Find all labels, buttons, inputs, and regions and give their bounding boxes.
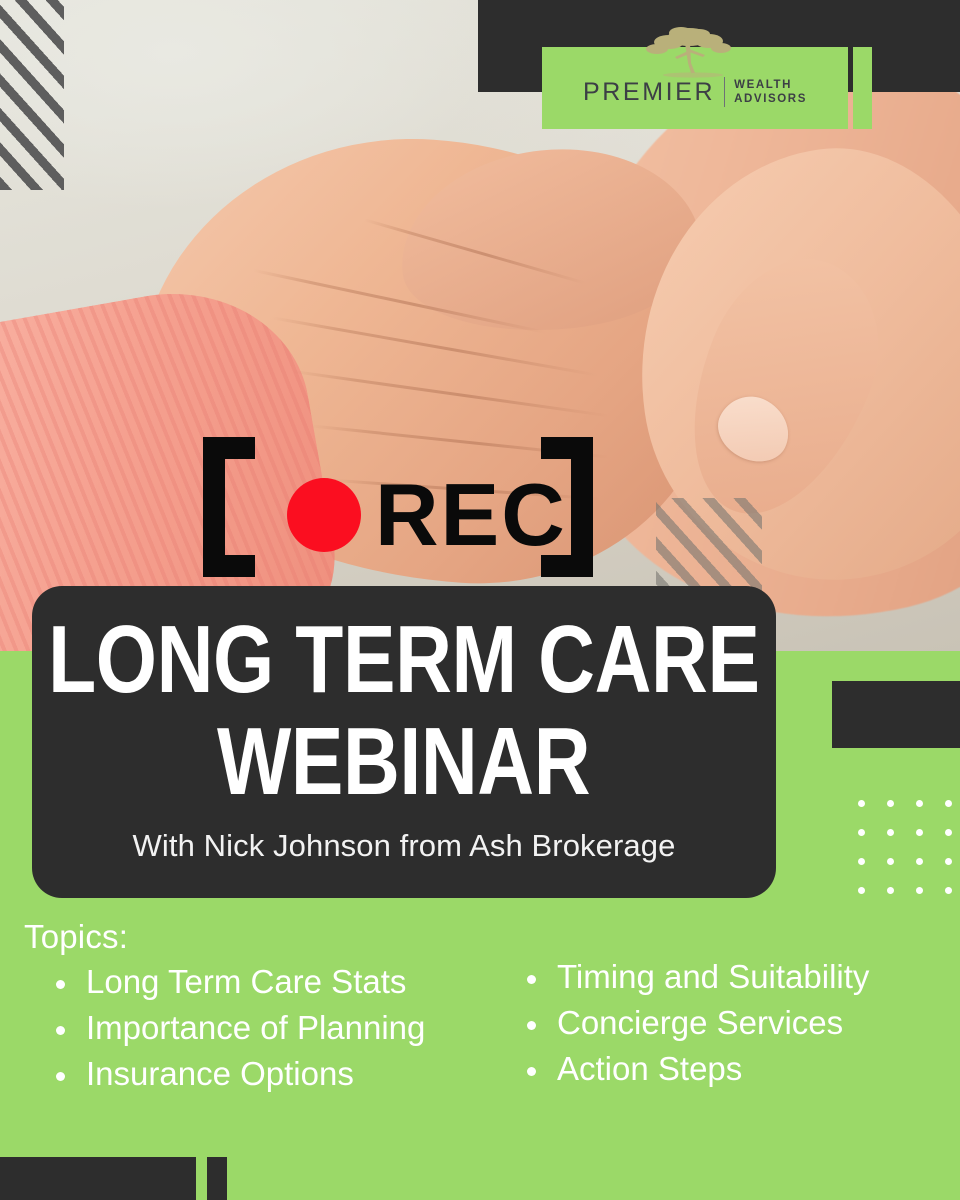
rec-badge: REC (203, 437, 593, 577)
rec-label: REC (375, 467, 567, 563)
title-line-2: WEBINAR (217, 714, 590, 810)
topic-item: Long Term Care Stats (54, 960, 479, 1004)
dot-decor (858, 858, 865, 865)
bracket-right-icon (541, 437, 593, 577)
brand-tagline: WEALTH ADVISORS (734, 78, 807, 106)
topic-item: Action Steps (525, 1047, 934, 1091)
topic-item: Concierge Services (525, 1001, 934, 1045)
dot-decor (945, 858, 952, 865)
topic-item: Importance of Planning (54, 1006, 479, 1050)
topics-label: Topics: (24, 918, 934, 956)
dot-decor (887, 800, 894, 807)
brand-name: PREMIER (583, 78, 715, 107)
logo-accent-bar (853, 47, 872, 129)
logo-divider (724, 77, 725, 107)
dot-decor (945, 800, 952, 807)
topics-column-right: Timing and Suitability Concierge Service… (479, 955, 934, 1098)
dot-decor (916, 858, 923, 865)
dot-decor (887, 829, 894, 836)
dot-decor (945, 887, 952, 894)
record-dot-icon (287, 478, 361, 552)
diagonal-stripes-top-left (0, 0, 64, 190)
tree-icon (635, 25, 743, 79)
bracket-left-icon (203, 437, 255, 577)
dot-decor (858, 800, 865, 807)
dark-accent-rectangle (832, 681, 960, 748)
topic-item: Insurance Options (54, 1052, 479, 1096)
dot-decor (858, 829, 865, 836)
topics-column-left: Long Term Care Stats Importance of Plann… (24, 960, 479, 1098)
brand-tagline-line2: ADVISORS (734, 93, 807, 105)
dot-decor (887, 887, 894, 894)
dot-decor (916, 800, 923, 807)
dot-decor (887, 858, 894, 865)
webinar-promo-poster: PREMIER WEALTH ADVISORS REC LONG TERM CA… (0, 0, 960, 1200)
dot-decor (945, 829, 952, 836)
dot-decor (916, 829, 923, 836)
brand-logo[interactable]: PREMIER WEALTH ADVISORS (542, 47, 848, 129)
dot-decor (916, 887, 923, 894)
title-line-1: LONG TERM CARE (48, 612, 759, 708)
topics-section: Topics: Long Term Care Stats Importance … (24, 918, 934, 1118)
bottom-accent-bar-small (207, 1157, 227, 1200)
bottom-accent-bar (0, 1157, 196, 1200)
title-card: LONG TERM CARE WEBINAR With Nick Johnson… (32, 586, 776, 898)
dot-grid-decor (858, 800, 960, 902)
title-subtitle: With Nick Johnson from Ash Brokerage (133, 828, 676, 864)
topic-item: Timing and Suitability (525, 955, 934, 999)
brand-tagline-line1: WEALTH (734, 79, 792, 91)
dot-decor (858, 887, 865, 894)
